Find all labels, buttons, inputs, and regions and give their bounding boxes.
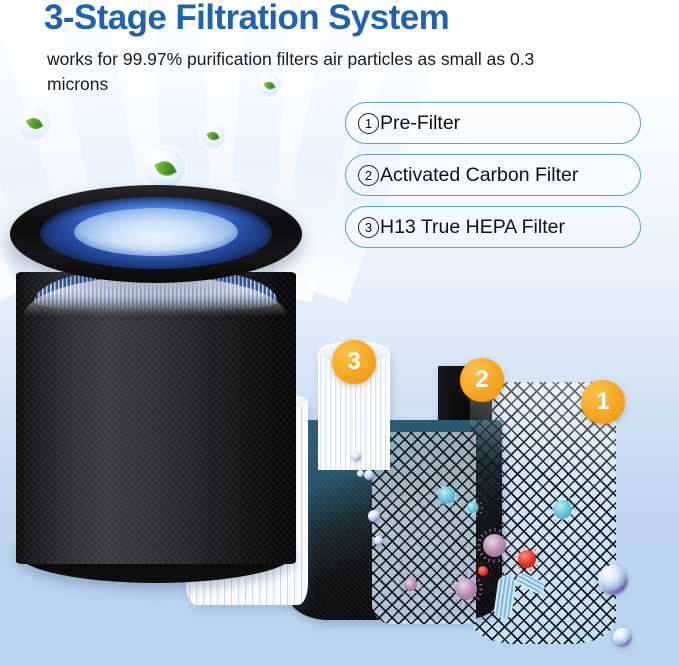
particle-bubble (357, 470, 364, 477)
filter-top-aperture (74, 208, 238, 256)
badge-stage-3: 3 (332, 340, 376, 384)
particle-bubble (352, 452, 361, 461)
germ-spiky (455, 578, 477, 600)
leaf-icon (206, 129, 220, 143)
page-subtitle: works for 99.97% purification filters ai… (47, 47, 577, 97)
badge-stage-2: 2 (460, 358, 504, 402)
callout-number-2: 2 (358, 165, 379, 186)
leaf-icon (154, 157, 177, 180)
callout-pre-filter[interactable]: 1 Pre-Filter (345, 102, 641, 144)
germ-virus (438, 487, 455, 504)
callout-activated-carbon-filter[interactable]: 2 Activated Carbon Filter (345, 154, 641, 196)
callout-label-3: H13 True HEPA Filter (380, 216, 565, 239)
callout-number-1: 1 (358, 113, 379, 134)
page-title: 3-Stage Filtration System (44, 0, 449, 38)
particle-bubble (364, 470, 374, 480)
leaf-icon (25, 114, 43, 132)
leaf-bubble (16, 105, 52, 141)
particle-bubble (374, 536, 383, 545)
particle-bubble (368, 510, 380, 522)
callout-number-3: 3 (358, 217, 379, 238)
badge-stage-1: 1 (581, 380, 625, 424)
callout-h13-true-hepa-filter[interactable]: 3 H13 True HEPA Filter (345, 206, 641, 248)
germ-spiky (404, 578, 417, 591)
leaf-bubble (143, 146, 187, 190)
particle-bubble (613, 628, 632, 647)
callout-label-1: Pre-Filter (380, 112, 460, 135)
germ-virus (553, 500, 572, 519)
badge-stage-3-number: 3 (347, 348, 360, 376)
germ-red (478, 566, 488, 576)
badge-stage-2-number: 2 (475, 366, 488, 394)
germ-virus (467, 502, 478, 513)
germ-spiky (483, 534, 506, 557)
particle-bubble (598, 565, 628, 595)
callout-label-2: Activated Carbon Filter (380, 164, 578, 187)
germ-red (518, 550, 536, 568)
infographic-canvas: 3-Stage Filtration System works for 99.9… (0, 0, 679, 666)
badge-stage-1-number: 1 (596, 388, 609, 416)
filter-stage-list: 1 Pre-Filter 2 Activated Carbon Filter 3… (345, 102, 641, 258)
leaf-bubble (199, 122, 227, 150)
